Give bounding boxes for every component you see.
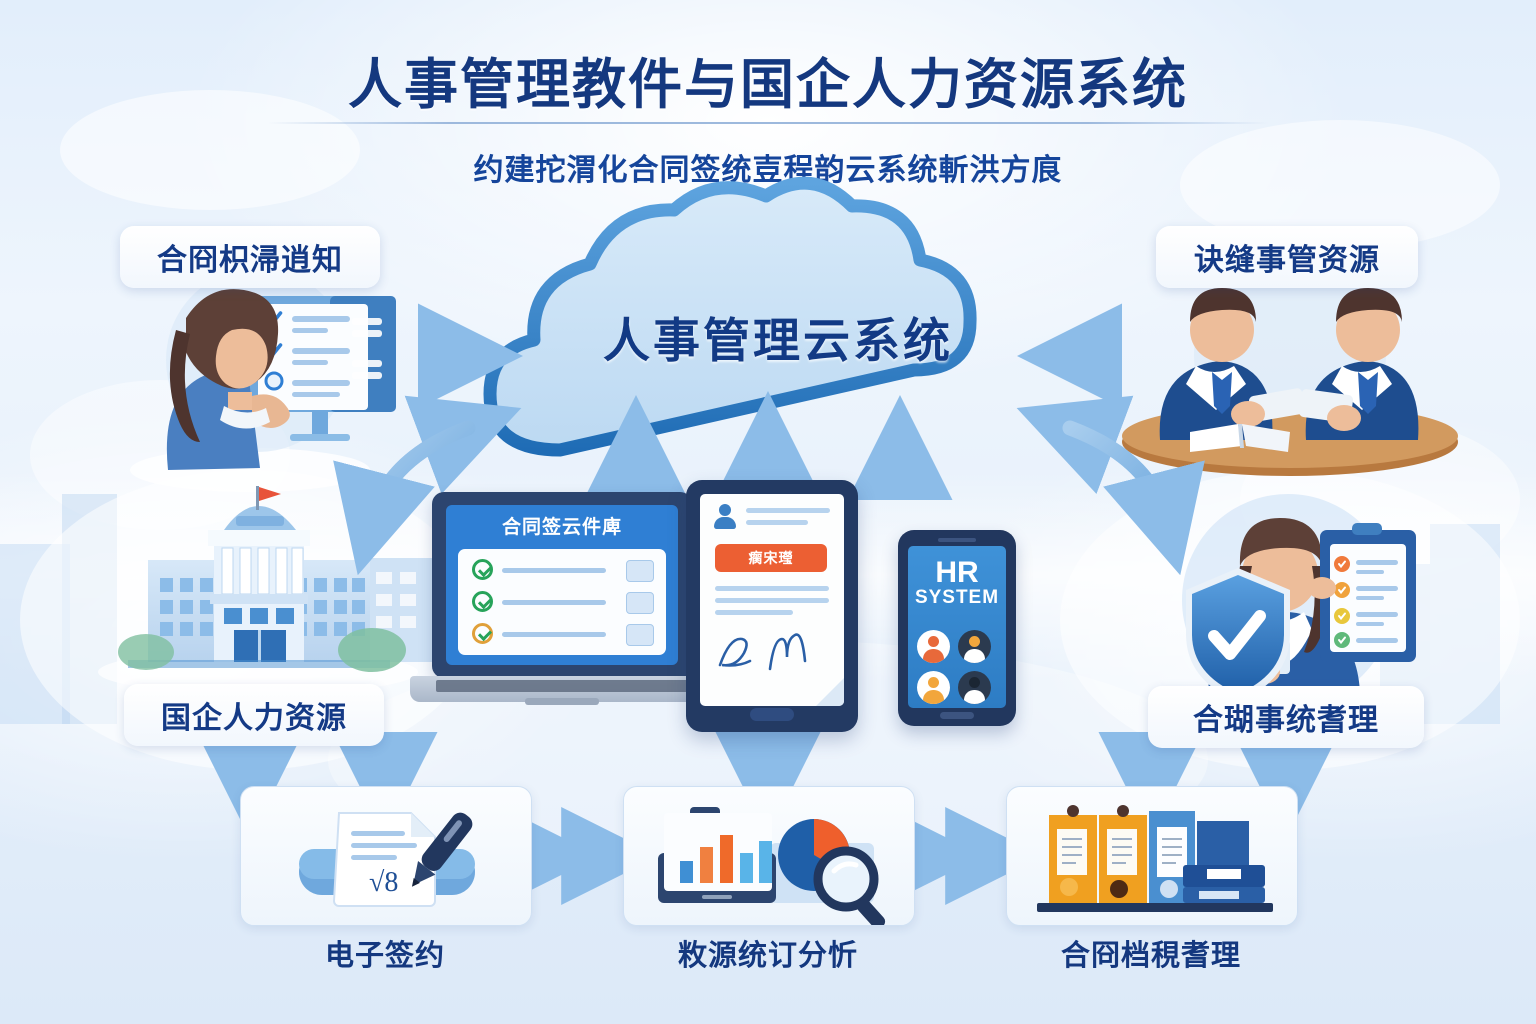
cloud-label: 人事管理云系统 <box>468 188 1088 458</box>
laptop-checklist <box>458 549 666 655</box>
page-title: 人事管理教件与国企人力资源系统 <box>0 40 1536 119</box>
bottom-card-e-sign[interactable]: √8 <box>240 786 532 926</box>
phone-speaker <box>938 538 976 542</box>
label-top-right[interactable]: 诀缝事管资源 <box>1156 226 1418 288</box>
page-fold-corner <box>816 678 844 706</box>
placeholder-line <box>746 508 830 513</box>
skyline-building <box>1430 524 1500 724</box>
page-subtitle: 约建拕渭化合同签统壴程韵云系统斬洪方㡾 <box>0 145 1536 189</box>
infographic-canvas: 人事管理教件与国企人力资源系统 约建拕渭化合同签统壴程韵云系统斬洪方㡾 <box>0 0 1536 1024</box>
document-pen-icon: √8 <box>241 787 531 925</box>
placeholder-line <box>715 598 829 603</box>
phone-home-button[interactable] <box>940 712 974 719</box>
signature-mark: √8 <box>369 867 398 898</box>
tablet-screen[interactable]: 瘸宋㼆 <box>700 494 844 706</box>
phone-brand-line1: HR <box>908 558 1006 588</box>
placeholder-line <box>502 600 606 605</box>
placeholder-line <box>715 586 829 591</box>
phone-screen[interactable]: HR SYSTEM <box>908 546 1006 708</box>
laptop-checklist-row[interactable] <box>470 623 656 645</box>
avatar[interactable] <box>917 630 950 663</box>
check-icon <box>472 591 493 612</box>
bottom-card-archive[interactable] <box>1006 786 1298 926</box>
placeholder-line <box>715 610 793 615</box>
tablet-home-button[interactable] <box>750 708 794 721</box>
skyline-building <box>0 544 70 724</box>
title-divider <box>268 122 1268 124</box>
placeholder-line <box>746 520 808 525</box>
skyline-building <box>62 494 117 724</box>
placeholder-line <box>502 632 606 637</box>
phone-brand-line2: SYSTEM <box>908 588 1006 609</box>
placeholder-line <box>502 568 606 573</box>
avatar[interactable] <box>917 671 950 704</box>
signature-icon <box>708 625 832 679</box>
row-box[interactable] <box>626 560 654 582</box>
bottom-caption-e-sign: 电子签约 <box>240 932 530 974</box>
avatar[interactable] <box>958 630 991 663</box>
bottom-caption-archive: 合冏档䅐耆理 <box>1006 932 1296 974</box>
bottom-caption-analytics: 敉源统订分忻 <box>623 932 913 974</box>
laptop-keyboard <box>436 680 688 692</box>
avatar[interactable] <box>958 671 991 704</box>
tablet-action-button[interactable]: 瘸宋㼆 <box>715 544 827 572</box>
laptop-trackpad <box>525 698 599 705</box>
check-icon <box>472 559 493 580</box>
label-mid-left[interactable]: 国企人力资源 <box>124 684 384 746</box>
laptop-screen-title: 合同签云件庳 <box>446 505 678 545</box>
check-icon <box>472 623 493 644</box>
file-binders-icon <box>1007 787 1297 925</box>
contract-avatar-icon <box>712 504 738 530</box>
laptop-screen[interactable]: 合同签云件庳 <box>446 505 678 665</box>
magnifier-icon <box>818 851 888 925</box>
row-box[interactable] <box>626 592 654 614</box>
central-cloud: 人事管理云系统 <box>468 188 1088 458</box>
laptop-checklist-row[interactable] <box>470 559 656 581</box>
laptop-checklist-row[interactable] <box>470 591 656 613</box>
chart-magnifier-icon <box>624 787 914 925</box>
bottom-card-analytics[interactable] <box>623 786 915 926</box>
label-top-left[interactable]: 合冏枳㴆逍知 <box>120 226 380 288</box>
row-box[interactable] <box>626 624 654 646</box>
phone-avatar-grid <box>917 630 997 704</box>
label-mid-right[interactable]: 合瑚事统耆理 <box>1148 686 1424 748</box>
